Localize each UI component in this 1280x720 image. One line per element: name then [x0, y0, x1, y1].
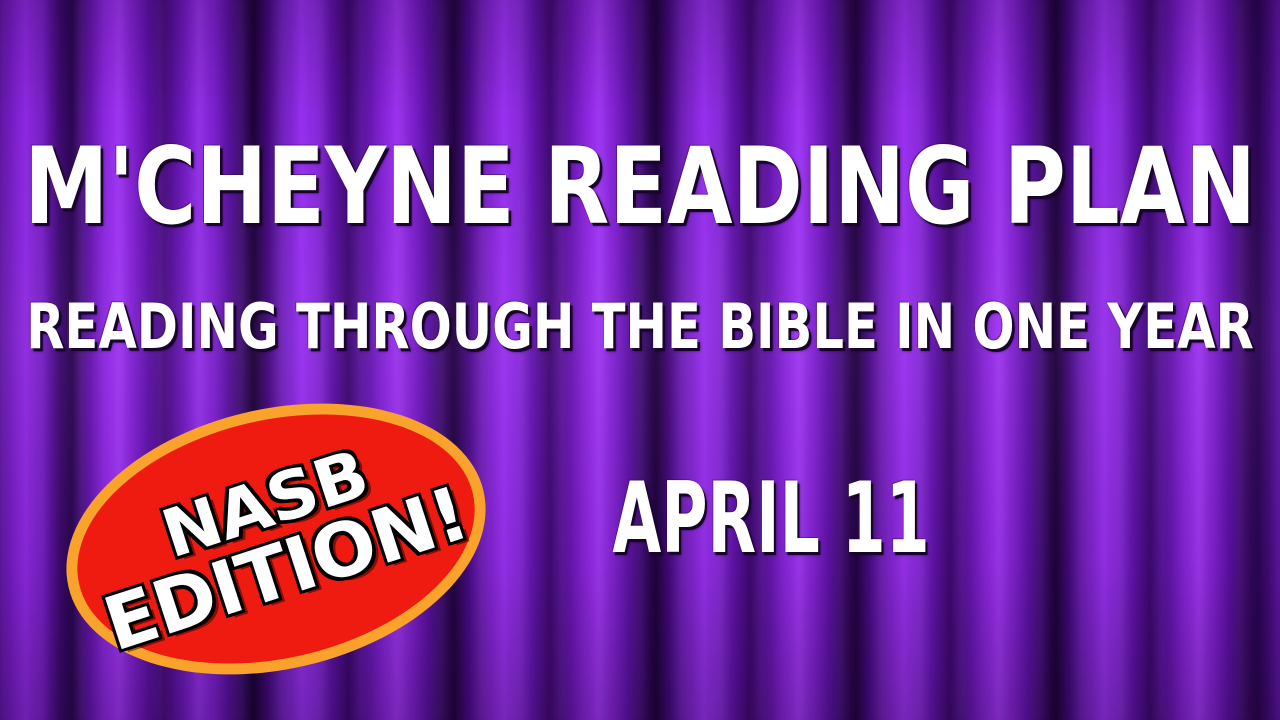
page-subtitle: READING THROUGH THE BIBLE IN ONE YEAR	[26, 296, 1254, 358]
video-title-card: M'CHEYNE READING PLAN READING THROUGH TH…	[0, 0, 1280, 720]
page-title: M'CHEYNE READING PLAN	[24, 134, 1256, 240]
date-label: APRIL 11	[592, 470, 950, 568]
